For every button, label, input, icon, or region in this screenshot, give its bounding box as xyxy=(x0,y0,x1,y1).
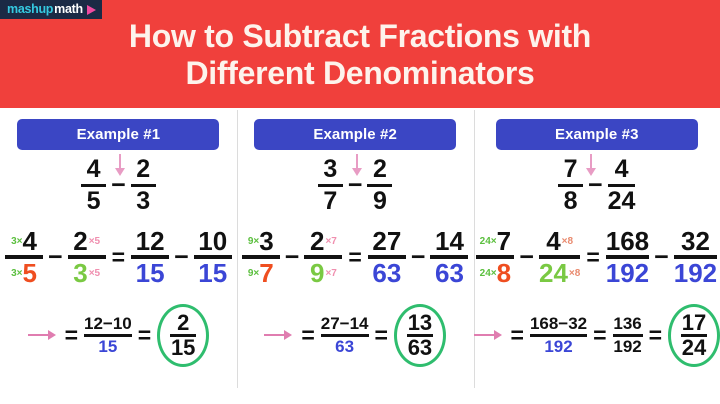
equals-operator: = xyxy=(138,324,151,347)
equals-operator: = xyxy=(586,246,599,269)
combined-fraction: 168−32 192 xyxy=(530,315,587,355)
numerator: 3 xyxy=(323,157,337,184)
numerator: 10 xyxy=(198,228,227,255)
numerator: 14 xyxy=(435,228,464,255)
arrow-right-icon xyxy=(28,328,58,342)
multiplier-suffix: ×8 xyxy=(569,269,580,279)
denominator: 15 xyxy=(171,337,195,359)
arrow-down-icon xyxy=(113,154,127,178)
step3-row-2: = 27−14 63 = 13 63 xyxy=(237,300,474,370)
minus-operator: − xyxy=(654,245,669,270)
denominator: 192 xyxy=(544,337,572,356)
fraction-right-scaled: 4×8 24×8 xyxy=(539,228,580,286)
final-answer: 17 24 xyxy=(668,308,720,363)
multiplier-prefix: 3× xyxy=(11,237,22,247)
numerator: 3×4 xyxy=(11,228,37,255)
numerator-value: 2 xyxy=(310,228,324,254)
numerator: 168 xyxy=(606,228,649,255)
header-banner: mashup math How to Subtract Fractions wi… xyxy=(0,0,720,108)
fraction-left-scaled: 9×3 9×7 xyxy=(242,228,280,286)
equals-operator: = xyxy=(112,246,125,269)
arrow-down-icon xyxy=(350,154,364,178)
numerator: 168−32 xyxy=(530,315,587,334)
multiplier-prefix: 3× xyxy=(11,269,22,279)
result-fraction-left: 168 192 xyxy=(606,228,649,286)
denominator: 7 xyxy=(323,187,337,214)
title-line-1: How to Subtract Fractions with xyxy=(14,18,706,55)
problem-row-3: 7 8 − 4 24 xyxy=(474,160,720,210)
example-column-1: Example #1 4 5 − 2 3 3×4 xyxy=(0,108,237,404)
numerator-value: 4 xyxy=(23,228,37,254)
logo-text-math: math xyxy=(54,0,83,19)
example-header-3: Example #3 xyxy=(496,119,698,150)
final-answer: 2 15 xyxy=(157,308,209,363)
numerator-value: 4 xyxy=(546,228,560,254)
equals-operator: = xyxy=(65,324,78,347)
denominator: 15 xyxy=(98,337,117,356)
denominator: 9×7 xyxy=(248,259,274,286)
denominator: 3×5 xyxy=(11,259,37,286)
numerator: 32 xyxy=(681,228,710,255)
numerator: 2×7 xyxy=(310,228,337,255)
multiplier-prefix: 24× xyxy=(480,237,497,247)
numerator: 2 xyxy=(177,312,189,334)
combined-fraction: 12−10 15 xyxy=(84,315,132,355)
numerator: 27−14 xyxy=(321,315,369,334)
examples-container: Example #1 4 5 − 2 3 3×4 xyxy=(0,108,720,404)
denominator: 5 xyxy=(87,187,101,214)
equals-operator: = xyxy=(649,324,662,347)
multiplier-prefix: 24× xyxy=(480,269,497,279)
fraction-left: 3 7 xyxy=(318,157,343,214)
denominator: 63 xyxy=(435,259,464,286)
title-line-2: Different Denominators xyxy=(14,55,706,92)
equals-operator: = xyxy=(593,324,606,347)
minus-operator: − xyxy=(411,245,426,270)
equals-operator: = xyxy=(348,246,361,269)
result-fraction-right: 10 15 xyxy=(194,228,232,286)
numerator: 17 xyxy=(682,312,706,334)
denominator: 192 xyxy=(674,259,717,286)
numerator: 2 xyxy=(136,157,150,184)
minus-operator: − xyxy=(285,245,300,270)
denominator-value: 5 xyxy=(23,260,37,286)
numerator-value: 2 xyxy=(73,228,87,254)
numerator: 9×3 xyxy=(248,228,274,255)
fraction-right: 2 9 xyxy=(367,157,392,214)
answer-fraction: 2 15 xyxy=(170,312,196,359)
step3-row-3: = 168−32 192 = 136 192 = 17 2 xyxy=(474,300,720,370)
multiplier-suffix: ×5 xyxy=(89,237,100,247)
numerator: 12−10 xyxy=(84,315,132,334)
multiplier-suffix: ×7 xyxy=(325,237,336,247)
combined-fraction: 27−14 63 xyxy=(321,315,369,355)
numerator: 12 xyxy=(136,228,165,255)
fraction-right-scaled: 2×7 9×7 xyxy=(304,228,342,286)
answer-fraction: 13 63 xyxy=(407,312,433,359)
multiplier-suffix: ×8 xyxy=(562,237,573,247)
arrow-right-icon xyxy=(264,328,294,342)
equals-operator: = xyxy=(301,324,314,347)
denominator-value: 24 xyxy=(539,260,568,286)
minus-operator: − xyxy=(48,245,63,270)
denominator-value: 7 xyxy=(259,260,273,286)
final-answer: 13 63 xyxy=(394,308,446,363)
result-fraction-right: 32 192 xyxy=(674,228,717,286)
numerator-value: 3 xyxy=(259,228,273,254)
denominator: 3 xyxy=(136,187,150,214)
problem-row-1: 4 5 − 2 3 xyxy=(0,160,237,210)
fraction-right-scaled: 2×5 3×5 xyxy=(68,228,106,286)
denominator-value: 3 xyxy=(73,260,87,286)
numerator: 27 xyxy=(372,228,401,255)
simplified-fraction: 136 192 xyxy=(613,315,643,355)
play-triangle-icon xyxy=(87,5,96,15)
step2-row-2: 9×3 9×7 − 2×7 9×7 = 27 6 xyxy=(237,224,474,290)
step2-row-3: 24×7 24×8 − 4×8 24×8 = 168 xyxy=(474,224,720,290)
numerator: 7 xyxy=(564,157,578,184)
denominator: 3×5 xyxy=(73,259,100,286)
fraction-left-scaled: 24×7 24×8 xyxy=(476,228,514,286)
numerator: 4×8 xyxy=(546,228,573,255)
answer-fraction: 17 24 xyxy=(681,312,707,359)
numerator: 4 xyxy=(87,157,101,184)
example-header-1: Example #1 xyxy=(17,119,219,150)
arrow-right-icon xyxy=(474,328,504,342)
denominator: 24×8 xyxy=(539,259,580,286)
fraction-right: 4 24 xyxy=(608,157,636,214)
example-header-2: Example #2 xyxy=(254,119,456,150)
denominator-value: 9 xyxy=(310,260,324,286)
denominator: 8 xyxy=(564,187,578,214)
denominator: 63 xyxy=(335,337,354,356)
denominator: 24 xyxy=(608,187,636,214)
page-title: How to Subtract Fractions with Different… xyxy=(0,18,720,92)
numerator: 24×7 xyxy=(480,228,511,255)
result-fraction-left: 27 63 xyxy=(368,228,406,286)
multiplier-prefix: 9× xyxy=(248,237,259,247)
multiplier-suffix: ×5 xyxy=(89,269,100,279)
minus-operator: − xyxy=(174,245,189,270)
denominator: 15 xyxy=(198,259,227,286)
denominator: 192 xyxy=(606,259,649,286)
result-fraction-right: 14 63 xyxy=(430,228,468,286)
denominator-value: 8 xyxy=(497,260,511,286)
logo-text-mashup: mashup xyxy=(7,0,53,19)
arrow-down-icon xyxy=(584,154,598,178)
denominator: 24 xyxy=(682,337,706,359)
denominator: 15 xyxy=(136,259,165,286)
fraction-left: 4 5 xyxy=(81,157,106,214)
numerator-value: 7 xyxy=(497,228,511,254)
fraction-left-scaled: 3×4 3×5 xyxy=(5,228,43,286)
denominator: 63 xyxy=(372,259,401,286)
denominator: 9 xyxy=(373,187,387,214)
multiplier-suffix: ×7 xyxy=(325,269,336,279)
step2-row-1: 3×4 3×5 − 2×5 3×5 = 12 1 xyxy=(0,224,237,290)
mashup-math-logo[interactable]: mashup math xyxy=(0,0,102,19)
fraction-right: 2 3 xyxy=(131,157,156,214)
example-column-2: Example #2 3 7 − 2 9 9×3 xyxy=(237,108,474,404)
numerator: 13 xyxy=(408,312,432,334)
denominator: 63 xyxy=(408,337,432,359)
denominator: 9×7 xyxy=(310,259,337,286)
denominator: 24×8 xyxy=(480,259,511,286)
numerator: 4 xyxy=(615,157,629,184)
numerator: 136 xyxy=(613,315,641,334)
example-column-3: Example #3 7 8 − 4 24 24×7 xyxy=(474,108,720,404)
numerator: 2 xyxy=(373,157,387,184)
equals-operator: = xyxy=(375,324,388,347)
step3-row-1: = 12−10 15 = 2 15 xyxy=(0,300,237,370)
problem-row-2: 3 7 − 2 9 xyxy=(237,160,474,210)
fraction-left: 7 8 xyxy=(558,157,583,214)
minus-operator: − xyxy=(519,245,534,270)
multiplier-prefix: 9× xyxy=(248,269,259,279)
denominator: 192 xyxy=(613,337,641,356)
equals-operator: = xyxy=(511,324,524,347)
numerator: 2×5 xyxy=(73,228,100,255)
result-fraction-left: 12 15 xyxy=(131,228,169,286)
